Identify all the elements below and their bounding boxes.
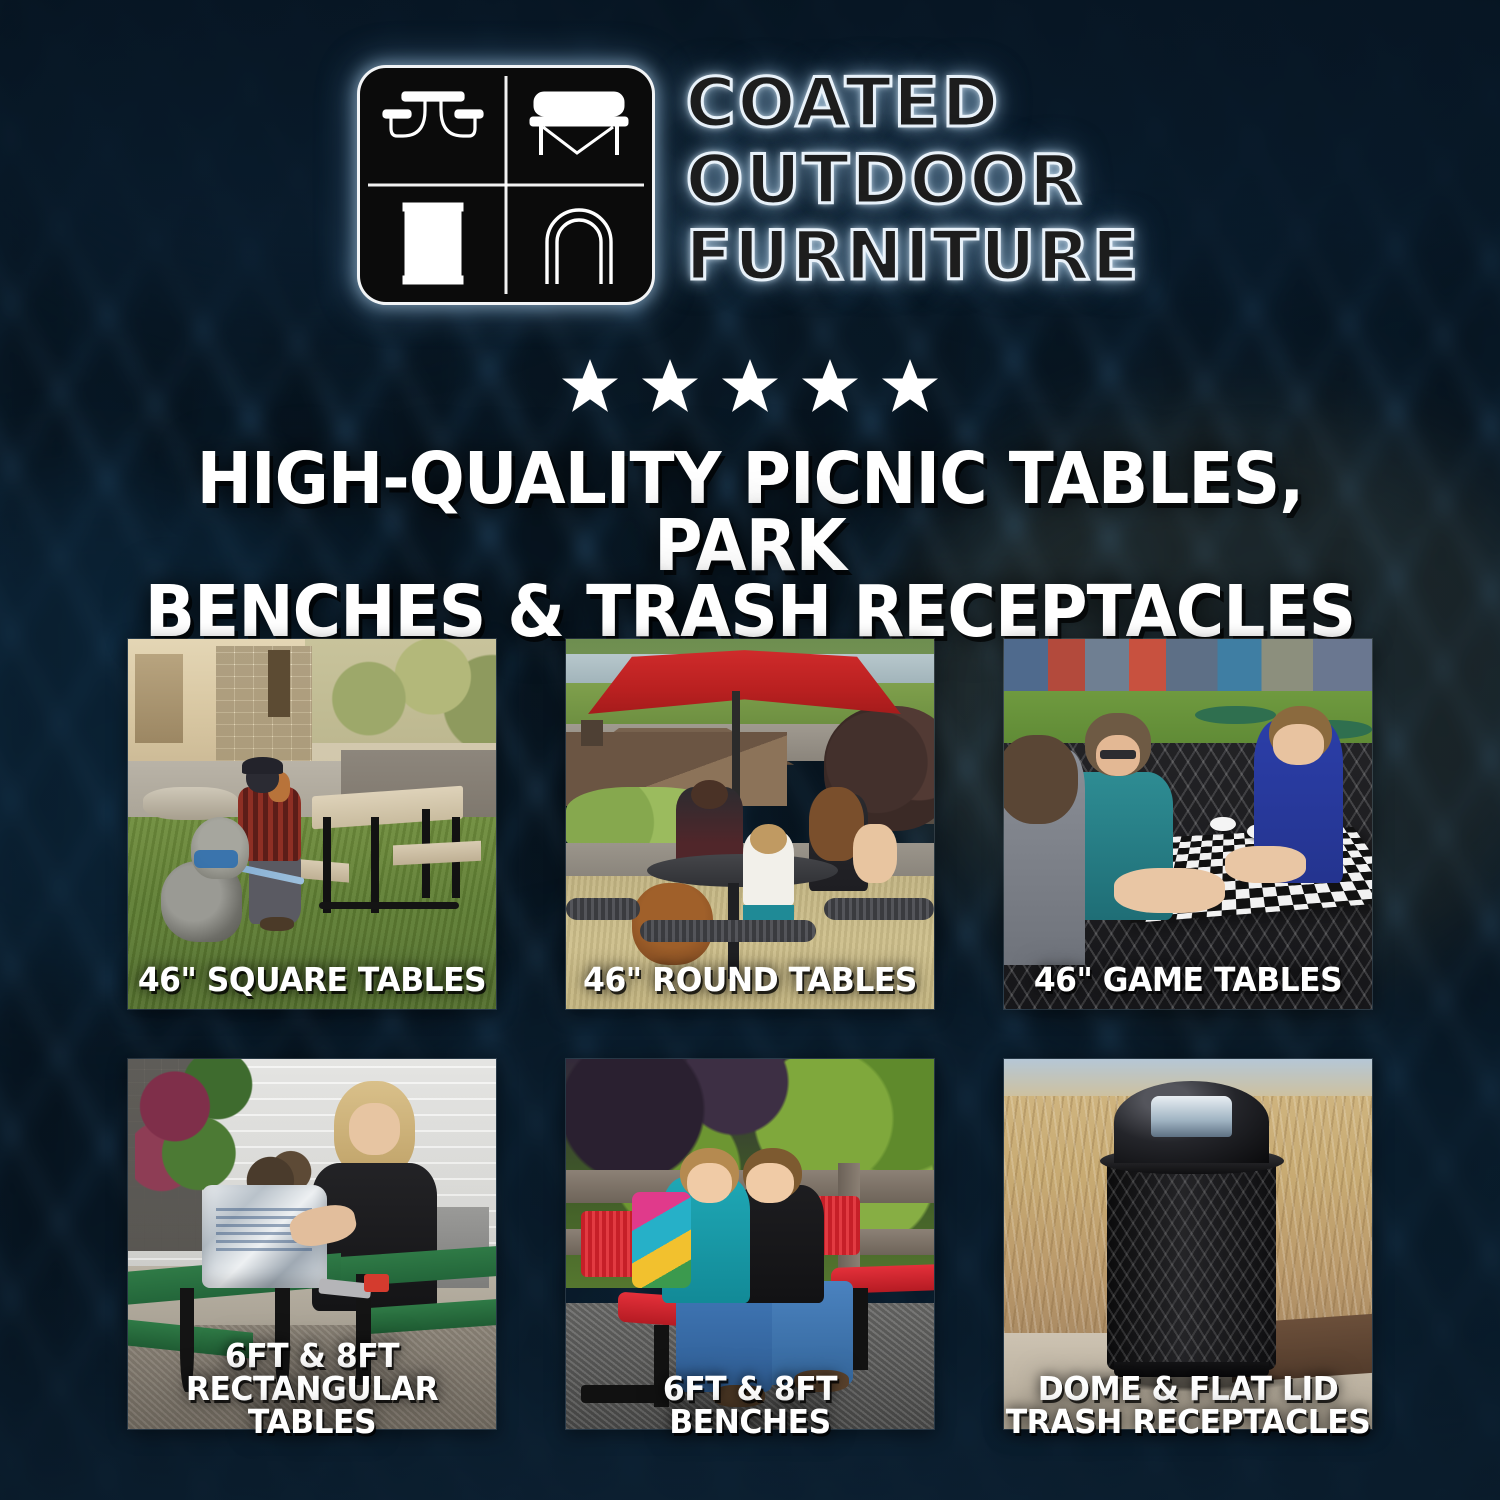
star-icon (639, 356, 701, 416)
logo-mark (360, 68, 652, 302)
product-tile-square-tables[interactable]: 46" SQUARE TABLES (127, 638, 497, 1010)
brand-line-1: COATED (686, 72, 1141, 137)
brand-header: COATED OUTDOOR FURNITURE (0, 68, 1500, 302)
brand-line-3: FURNITURE (686, 225, 1141, 290)
product-photo-square-tables (127, 638, 497, 1010)
product-tile-trash-receptacles[interactable]: DOME & FLAT LID TRASH RECEPTACLES (1003, 1058, 1373, 1430)
picnic-table-icon (360, 68, 506, 185)
star-rating (0, 356, 1500, 416)
bike-rack-icon (506, 185, 652, 302)
star-icon (559, 356, 621, 416)
product-tile-round-tables[interactable]: 46" ROUND TABLES (565, 638, 935, 1010)
bench-side-icon (506, 68, 652, 185)
star-icon (719, 356, 781, 416)
headline-line-1: HIGH-QUALITY PICNIC TABLES, PARK (197, 437, 1304, 587)
product-grid: 46" SQUARE TABLES 46" ROUND TABLES (127, 638, 1373, 1430)
page-headline: HIGH-QUALITY PICNIC TABLES, PARK BENCHES… (108, 446, 1391, 646)
brand-line-2: OUTDOOR (686, 149, 1141, 214)
product-photo-benches (565, 1058, 935, 1430)
product-tile-benches[interactable]: 6FT & 8FT BENCHES (565, 1058, 935, 1430)
star-icon (879, 356, 941, 416)
product-photo-rectangular-tables (127, 1058, 497, 1430)
product-tile-rectangular-tables[interactable]: 6FT & 8FT RECTANGULAR TABLES (127, 1058, 497, 1430)
headline-line-2: BENCHES & TRASH RECEPTACLES (108, 579, 1391, 646)
trash-receptacle-icon (360, 185, 506, 302)
product-photo-game-tables (1003, 638, 1373, 1010)
brand-name: COATED OUTDOOR FURNITURE (686, 68, 1141, 302)
star-icon (799, 356, 861, 416)
product-photo-round-tables (565, 638, 935, 1010)
product-tile-game-tables[interactable]: 46" GAME TABLES (1003, 638, 1373, 1010)
product-photo-trash-receptacles (1003, 1058, 1373, 1430)
